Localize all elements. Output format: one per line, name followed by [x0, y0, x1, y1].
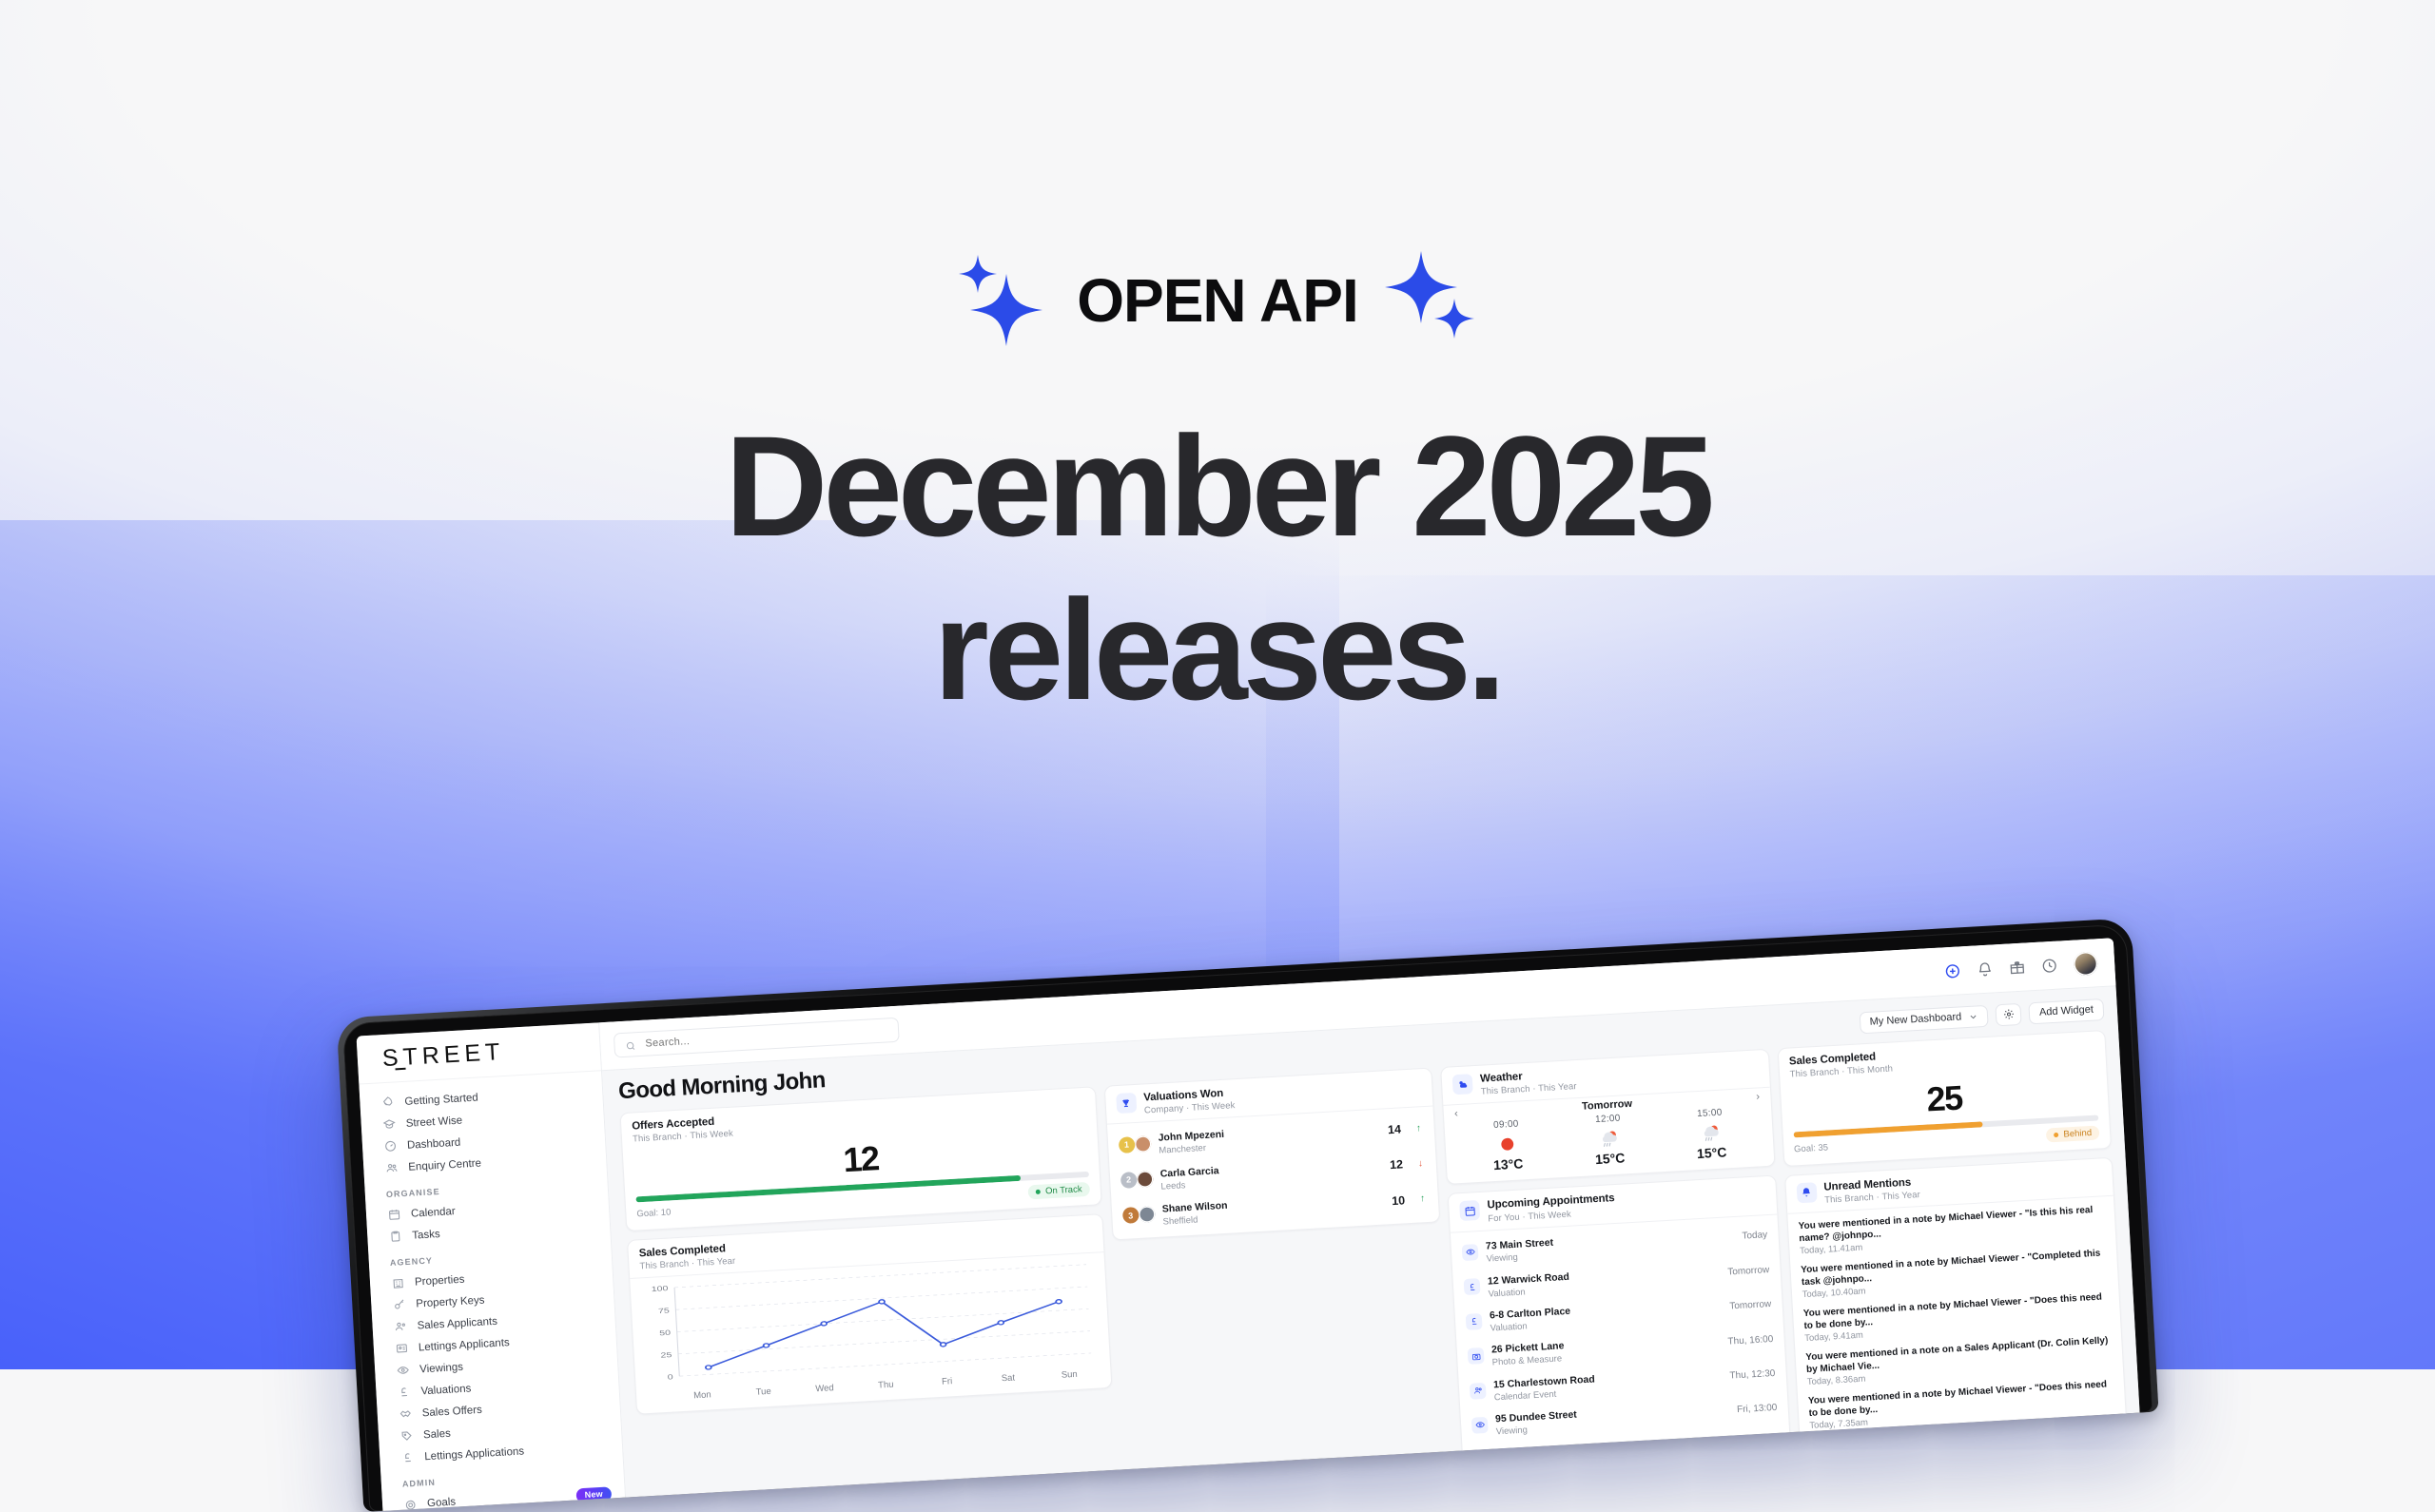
- sidebar-item-label: Enquiry Centre: [408, 1157, 481, 1173]
- chart-x-label: Sun: [1039, 1368, 1101, 1383]
- search-input[interactable]: [643, 1023, 887, 1050]
- appointment-address: 73 Main Street: [1486, 1237, 1554, 1252]
- chevron-down-icon: [1969, 1012, 1977, 1020]
- widget-column-1: Offers Accepted This Branch · This Week …: [619, 1086, 1112, 1415]
- leaderboard-rows: 1 John Mpezeni Manchester 14 ↑ 2 Carla G…: [1107, 1107, 1440, 1239]
- leaderboard-person: Shane Wilson Sheffield: [1161, 1196, 1228, 1228]
- avatar[interactable]: [2073, 951, 2097, 976]
- appointment-type: Viewing: [1486, 1250, 1554, 1265]
- appointment-when: Fri, 13:00: [1737, 1403, 1778, 1415]
- appointment-when: Thu, 12:30: [1729, 1368, 1775, 1382]
- status-label: On Track: [1045, 1184, 1082, 1196]
- trend-up-icon: ↑: [1413, 1123, 1425, 1134]
- widget-grid: Offers Accepted This Branch · This Week …: [619, 1030, 2128, 1498]
- people-icon: [384, 1161, 399, 1175]
- sparkle-group-left: [949, 249, 1056, 352]
- appointment-when: Today: [1742, 1231, 1767, 1242]
- widget-weather: Weather This Branch · This Year ‹ Tomorr…: [1440, 1049, 1775, 1185]
- dashboard-content: Good Morning John My New Dashboard Add W…: [602, 986, 2140, 1497]
- weather-slot: 09:00 13°C: [1455, 1117, 1560, 1175]
- widget-header-text: Sales Completed This Branch · This Year: [638, 1242, 735, 1272]
- rank-avatar-group: 1: [1118, 1134, 1151, 1154]
- calendar-icon: [387, 1208, 401, 1222]
- widget-header-text: Weather This Branch · This Year: [1480, 1067, 1577, 1097]
- brand-logo-text: STREET: [381, 1037, 505, 1072]
- appointment-info: 15 Charlestown Road Calendar Event: [1493, 1369, 1596, 1403]
- person-branch: Sheffield: [1162, 1213, 1228, 1228]
- widget-unread-mentions: Unread Mentions This Branch · This Year …: [1784, 1157, 2127, 1441]
- appointment-when: Sat, 10:00: [1736, 1438, 1780, 1451]
- person-branch: Manchester: [1159, 1142, 1225, 1156]
- appointment-info: 123 Acacia Avenue Valuation: [1497, 1440, 1588, 1473]
- chart-area: 1007550250 MonTueWedThuFriSatSun: [630, 1252, 1111, 1414]
- sidebar-item-label: Dashboard: [407, 1136, 461, 1151]
- sidebar-item-label: Goals: [427, 1497, 457, 1510]
- sidebar-item-label: Sales Offers: [421, 1404, 482, 1419]
- handshake-icon: [398, 1406, 412, 1421]
- widget-header-text: Upcoming Appointments For You · This Wee…: [1487, 1192, 1615, 1224]
- pound-icon: [1466, 1313, 1483, 1330]
- appointment-type: Viewing: [1496, 1423, 1578, 1438]
- eyebrow-label: OPEN API: [1077, 270, 1357, 331]
- gauge-icon: [383, 1139, 398, 1153]
- appointment-when: Tomorrow: [1727, 1265, 1769, 1277]
- status-badge-new: New: [575, 1486, 612, 1502]
- appointment-address: 6-8 Carlton Place: [1490, 1306, 1571, 1322]
- bell-icon[interactable]: [1977, 960, 1994, 978]
- key-icon: [392, 1298, 406, 1312]
- gear-icon: [2002, 1008, 2015, 1020]
- appointment-type: Valuation: [1498, 1457, 1588, 1473]
- page-title: December 2025 releases.: [0, 415, 2435, 721]
- kpi-body: 25 Goal: 35 Behind: [1780, 1068, 2111, 1165]
- svg-text:0: 0: [668, 1373, 673, 1381]
- sidebar-item-label: Sales: [423, 1427, 451, 1441]
- appointment-address: 123 Acacia Avenue: [1497, 1444, 1588, 1460]
- appointment-info: 73 Main Street Viewing: [1485, 1233, 1554, 1265]
- hero-section: OPEN API December 2025 releases.: [0, 0, 2435, 721]
- rank-avatar-group: 2: [1120, 1170, 1154, 1190]
- pound-icon: [1464, 1278, 1481, 1295]
- search-icon: [625, 1038, 636, 1051]
- laptop-screen: STREET Getting Started Street Wise Dashb…: [357, 938, 2140, 1510]
- camera-icon: [1468, 1347, 1485, 1365]
- headline-line-2: releases.: [0, 578, 2435, 721]
- rocket-icon: [380, 1095, 395, 1110]
- eye-icon: [396, 1364, 410, 1378]
- dashboard-controls: My New Dashboard Add Widget: [1859, 998, 2104, 1034]
- building-icon: [391, 1276, 405, 1290]
- tag-icon: [399, 1428, 414, 1443]
- clipboard-icon: [388, 1230, 402, 1244]
- person-name: Carla Garcia: [1159, 1165, 1218, 1179]
- sidebar: STREET Getting Started Street Wise Dashb…: [357, 1022, 627, 1511]
- eyebrow-row: OPEN API: [0, 249, 2435, 352]
- kpi-goal: Goal: 10: [636, 1207, 671, 1219]
- sparkle-group-right: [1379, 249, 1486, 352]
- avatar: [1137, 1171, 1154, 1188]
- appointment-address: 12 Warwick Road: [1488, 1270, 1570, 1287]
- appointment-when: Tomorrow: [1729, 1299, 1771, 1311]
- sidebar-item-label: Viewings: [419, 1361, 463, 1375]
- appointment-type: Photo & Measure: [1492, 1354, 1566, 1369]
- status-badge: Behind: [2046, 1125, 2099, 1142]
- rank-badge: 2: [1120, 1172, 1138, 1189]
- weather-next-button[interactable]: ›: [1748, 1092, 1761, 1104]
- widget-column-3: Weather This Branch · This Year ‹ Tomorr…: [1440, 1049, 1791, 1483]
- top-bar-actions: [1944, 951, 2098, 983]
- sidebar-item-label: Getting Started: [404, 1092, 478, 1107]
- headline-line-1: December 2025: [725, 406, 1710, 566]
- person-name: John Mpezeni: [1158, 1129, 1224, 1144]
- pound-icon: [400, 1450, 415, 1464]
- trend-up-icon: ↑: [1417, 1193, 1429, 1205]
- chart-x-label: Wed: [794, 1382, 856, 1396]
- appointment-info: 95 Dundee Street Viewing: [1495, 1405, 1578, 1438]
- main-area: Good Morning John My New Dashboard Add W…: [599, 938, 2139, 1497]
- widget-sales-completed-kpi: Sales Completed This Branch · This Month…: [1777, 1030, 2112, 1167]
- eye-icon: [1462, 1244, 1479, 1261]
- dashboard-select-label: My New Dashboard: [1869, 1011, 1961, 1027]
- gift-icon[interactable]: [2009, 959, 2026, 976]
- weather-slot: 12:00 15°C: [1557, 1112, 1662, 1170]
- widget-offers-accepted: Offers Accepted This Branch · This Week …: [619, 1086, 1101, 1231]
- avatar: [1139, 1206, 1156, 1223]
- chart-x-label: Tue: [732, 1386, 794, 1400]
- sidebar-item-label: Street Wise: [405, 1115, 462, 1129]
- sidebar-nav: Getting Started Street Wise Dashboard En…: [359, 1071, 625, 1511]
- sidebar-item-label: Calendar: [411, 1206, 456, 1220]
- user-card-icon: [395, 1342, 409, 1356]
- appointment-info: 12 Warwick Road Valuation: [1487, 1267, 1569, 1299]
- clock-icon[interactable]: [2041, 957, 2058, 974]
- svg-text:50: 50: [659, 1328, 671, 1337]
- svg-text:100: 100: [652, 1285, 669, 1293]
- eye-icon: [1471, 1417, 1489, 1434]
- leaderboard-value: 12: [1390, 1158, 1404, 1173]
- svg-text:25: 25: [660, 1351, 672, 1360]
- bell-icon: [1796, 1182, 1817, 1203]
- appointment-rows: 73 Main Street Viewing Today 12 Warwick …: [1451, 1214, 1790, 1481]
- leaderboard-value: 14: [1388, 1123, 1402, 1137]
- graduation-icon: [381, 1117, 396, 1132]
- leaderboard-value: 10: [1392, 1193, 1406, 1208]
- add-widget-button[interactable]: Add Widget: [2028, 998, 2104, 1024]
- status-badge: On Track: [1028, 1182, 1090, 1200]
- widget-header-text: Offers Accepted This Branch · This Week: [632, 1115, 733, 1145]
- rank-avatar-group: 3: [1122, 1205, 1156, 1225]
- status-label: Behind: [2063, 1128, 2092, 1140]
- dashboard-select[interactable]: My New Dashboard: [1859, 1004, 1989, 1034]
- sparkle-small-icon: [1434, 299, 1474, 339]
- sidebar-item-label: Sales Applicants: [417, 1315, 497, 1331]
- sparkle-large-icon: [970, 274, 1042, 346]
- sidebar-item-label: Properties: [415, 1273, 465, 1288]
- appointment-type: Valuation: [1490, 1319, 1571, 1334]
- sidebar-item-label: Lettings Applications: [424, 1445, 524, 1463]
- sidebar-item-label: Tasks: [412, 1229, 440, 1242]
- greeting-title: Good Morning John: [617, 1067, 826, 1105]
- rank-badge: 3: [1122, 1207, 1140, 1224]
- appointment-info: 6-8 Carlton Place Valuation: [1489, 1302, 1571, 1334]
- trend-down-icon: ↓: [1415, 1158, 1427, 1170]
- svg-text:75: 75: [658, 1307, 670, 1315]
- chart-x-label: Thu: [855, 1378, 917, 1392]
- widget-header-text: Sales Completed This Branch · This Month: [1789, 1050, 1894, 1080]
- sidebar-item-label: Property Keys: [416, 1294, 485, 1309]
- weather-icon: [1452, 1074, 1473, 1095]
- weather-prev-button[interactable]: ‹: [1454, 1108, 1467, 1120]
- trophy-icon: [1116, 1093, 1137, 1114]
- leaderboard-person: Carla Garcia Leeds: [1159, 1161, 1219, 1192]
- sidebar-item-label: Lettings Applicants: [419, 1337, 510, 1353]
- pound-icon: [397, 1386, 411, 1400]
- users-icon: [393, 1320, 407, 1334]
- person-name: Shane Wilson: [1162, 1200, 1228, 1215]
- dashboard-settings-button[interactable]: [1995, 1002, 2021, 1025]
- people-icon: [1470, 1382, 1487, 1399]
- weather-slot: 15:00 15°C: [1659, 1106, 1763, 1164]
- laptop-bezel: STREET Getting Started Street Wise Dashb…: [336, 918, 2158, 1512]
- chart-x-label: Sat: [977, 1371, 1039, 1386]
- pound-icon: [1473, 1451, 1490, 1468]
- add-widget-label: Add Widget: [2039, 1004, 2094, 1018]
- search-box[interactable]: [614, 1018, 900, 1058]
- widget-upcoming-appointments: Upcoming Appointments For You · This Wee…: [1448, 1175, 1792, 1483]
- mention-rows: You were mentioned in a note by Michael …: [1787, 1196, 2126, 1440]
- widget-column-4: Sales Completed This Branch · This Month…: [1777, 1030, 2127, 1441]
- person-branch: Leeds: [1160, 1178, 1219, 1192]
- widget-header-text: Unread Mentions This Branch · This Year: [1823, 1175, 1920, 1206]
- laptop-mockup: STREET Getting Started Street Wise Dashb…: [336, 918, 2158, 1512]
- appointment-info: 26 Pickett Lane Photo & Measure: [1491, 1337, 1566, 1369]
- chart-x-label: Mon: [672, 1388, 733, 1403]
- widget-column-2: Valuations Won Company · This Week 1 Joh…: [1104, 1068, 1441, 1241]
- chart-x-label: Fri: [916, 1375, 978, 1389]
- target-icon: [403, 1498, 418, 1511]
- widget-header-text: Valuations Won Company · This Week: [1143, 1086, 1236, 1116]
- avatar: [1135, 1135, 1152, 1153]
- plus-circle-icon[interactable]: [1944, 962, 1961, 979]
- appointment-when: Thu, 16:00: [1727, 1334, 1773, 1347]
- kpi-goal: Goal: 35: [1794, 1142, 1828, 1154]
- widget-sales-completed-chart: Sales Completed This Branch · This Year …: [627, 1213, 1112, 1415]
- rank-badge: 1: [1119, 1136, 1136, 1153]
- calendar-icon: [1459, 1200, 1480, 1221]
- sidebar-item-label: Valuations: [420, 1383, 471, 1397]
- leaderboard-person: John Mpezeni Manchester: [1158, 1125, 1225, 1156]
- widget-valuations-won: Valuations Won Company · This Week 1 Joh…: [1104, 1068, 1441, 1241]
